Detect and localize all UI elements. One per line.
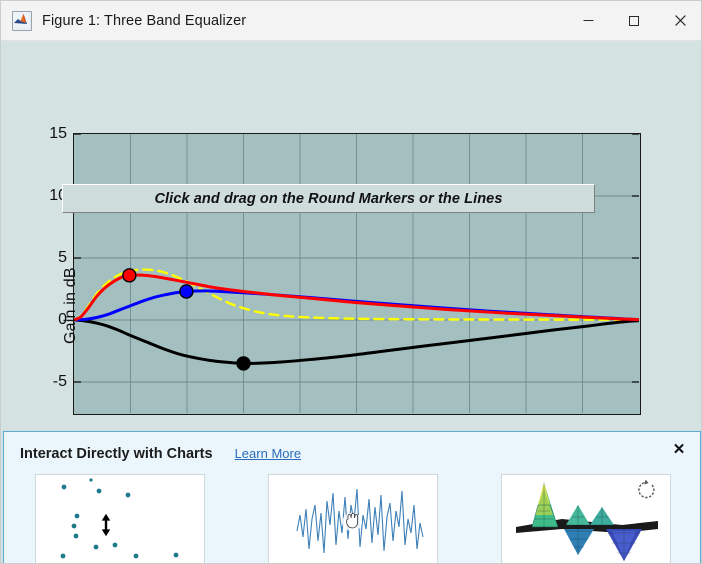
close-icon[interactable] xyxy=(657,1,702,41)
y-axis-label: Gain in dB xyxy=(62,267,80,344)
scatter-zoom-thumb xyxy=(35,474,205,564)
draggable-marker[interactable] xyxy=(180,285,193,298)
figure-window: Figure 1: Three Band Equalizer Gain in d… xyxy=(0,0,702,564)
matlab-membrane-icon xyxy=(12,11,32,31)
minimize-icon[interactable] xyxy=(565,1,611,41)
y-tick-label: 15 xyxy=(49,125,67,143)
hint-card-scroll-to-zoom[interactable]: Scroll to zoom xyxy=(34,474,206,564)
vertical-resize-cursor xyxy=(93,513,119,537)
draggable-marker[interactable] xyxy=(123,269,136,282)
plot-surface[interactable] xyxy=(74,134,639,413)
window-controls xyxy=(565,1,702,41)
y-tick-label: 5 xyxy=(58,249,67,267)
y-tick-label: 0 xyxy=(58,311,67,329)
hint-panel-title: Interact Directly with Charts xyxy=(20,446,213,462)
learn-more-link[interactable]: Learn More xyxy=(235,446,301,461)
surface-rotate-thumb xyxy=(501,474,671,564)
equalizer-axes[interactable]: Gain in dB 151050-5 xyxy=(73,133,641,415)
hint-panel-header: Interact Directly with Charts Learn More xyxy=(20,446,301,462)
waveform-pan-thumb xyxy=(268,474,438,564)
y-tick-label: -5 xyxy=(53,373,67,391)
maximize-icon[interactable] xyxy=(611,1,657,41)
hint-card-drag-to-pan[interactable]: Drag to pan in 2D xyxy=(267,474,439,564)
rotate-cursor xyxy=(639,480,654,498)
hand-cursor xyxy=(342,513,362,531)
draggable-marker[interactable] xyxy=(237,357,250,370)
hint-panel-close-icon[interactable]: ✕ xyxy=(668,438,690,460)
hint-card-drag-to-rotate[interactable]: Drag to rotate in 3D xyxy=(500,474,672,564)
instruction-banner: Click and drag on the Round Markers or t… xyxy=(62,184,595,213)
interaction-hint-panel: Interact Directly with Charts Learn More… xyxy=(3,431,701,564)
hint-cards: Scroll to zoom Drag to pan in 2D xyxy=(4,474,702,564)
figure-canvas: Gain in dB 151050-5 Click and drag on th… xyxy=(1,41,702,564)
window-title: Figure 1: Three Band Equalizer xyxy=(42,13,246,29)
title-bar: Figure 1: Three Band Equalizer xyxy=(1,1,702,41)
instruction-banner-text: Click and drag on the Round Markers or t… xyxy=(154,191,502,207)
